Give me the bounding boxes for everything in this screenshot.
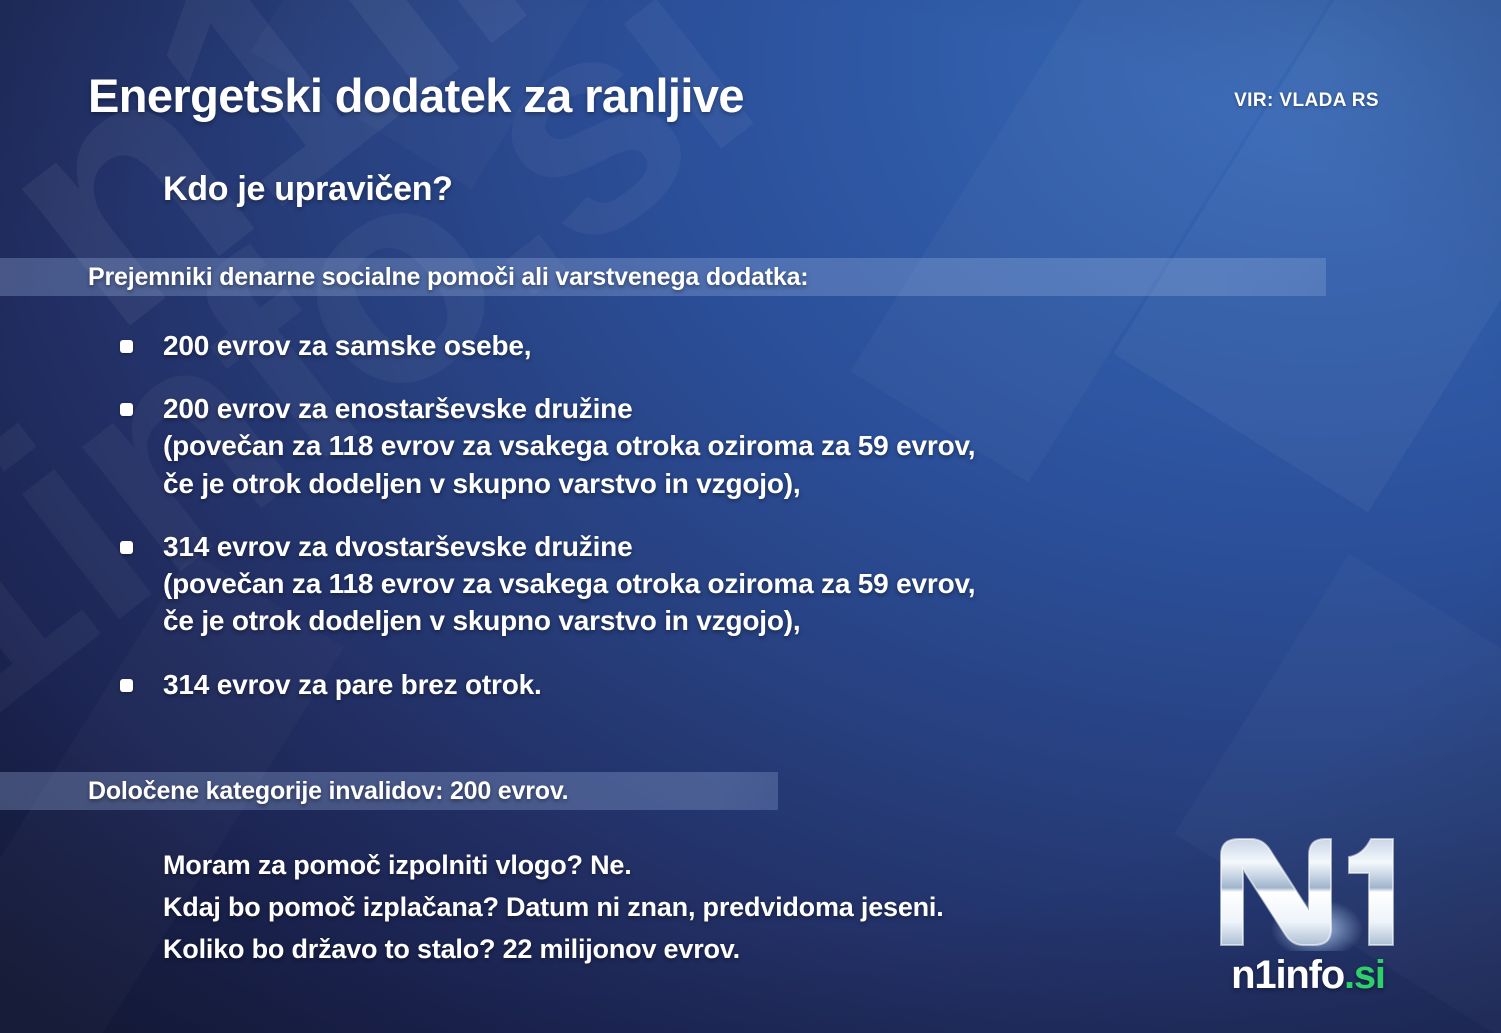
list-item: 200 evrov za samske osebe, bbox=[120, 327, 1240, 364]
n1-logo-wordmark-tld: .si bbox=[1344, 953, 1385, 997]
list-item: 314 evrov za dvostarševske družine (pove… bbox=[120, 528, 1240, 640]
list-item-line: 200 evrov za samske osebe, bbox=[163, 327, 531, 364]
n1-logo-wordmark-name: n1info bbox=[1231, 953, 1344, 997]
section-banner-eligibility-label: Prejemniki denarne socialne pomoči ali v… bbox=[0, 263, 808, 292]
eligibility-list: 200 evrov za samske osebe, 200 evrov za … bbox=[120, 327, 1240, 729]
bullet-square-icon bbox=[120, 679, 133, 692]
content-area: Energetski dodatek za ranljive VIR: VLAD… bbox=[0, 0, 1501, 1033]
faq-line: Koliko bo državo to stalo? 22 milijonov … bbox=[163, 929, 944, 971]
list-item-line: 314 evrov za dvostarševske družine bbox=[163, 528, 975, 565]
list-item: 314 evrov za pare brez otrok. bbox=[120, 666, 1240, 703]
page-subtitle: Kdo je upravičen? bbox=[163, 170, 453, 209]
faq-block: Moram za pomoč izpolniti vlogo? Ne. Kdaj… bbox=[163, 845, 944, 971]
section-banner-disability-label: Določene kategorije invalidov: 200 evrov… bbox=[0, 777, 568, 806]
n1-logo: n1info.si bbox=[1193, 833, 1423, 995]
list-item-text: 200 evrov za enostarševske družine (pove… bbox=[163, 390, 975, 502]
list-item-text: 314 evrov za pare brez otrok. bbox=[163, 666, 542, 703]
source-attribution: VIR: VLADA RS bbox=[1234, 90, 1379, 112]
n1-logo-wordmark: n1info.si bbox=[1193, 955, 1423, 995]
infographic-card: n1info.si n1info.si Energetski dodatek z… bbox=[0, 0, 1501, 1033]
bullet-square-icon bbox=[120, 541, 133, 554]
n1-logo-mark-icon bbox=[1213, 833, 1403, 951]
bullet-square-icon bbox=[120, 340, 133, 353]
list-item-text: 200 evrov za samske osebe, bbox=[163, 327, 531, 364]
list-item-line: (povečan za 118 evrov za vsakega otroka … bbox=[163, 565, 975, 602]
list-item-text: 314 evrov za dvostarševske družine (pove… bbox=[163, 528, 975, 640]
bullet-square-icon bbox=[120, 403, 133, 416]
section-banner-disability: Določene kategorije invalidov: 200 evrov… bbox=[0, 772, 778, 810]
list-item-line: če je otrok dodeljen v skupno varstvo in… bbox=[163, 465, 975, 502]
faq-line: Kdaj bo pomoč izplačana? Datum ni znan, … bbox=[163, 887, 944, 929]
list-item-line: 314 evrov za pare brez otrok. bbox=[163, 666, 542, 703]
section-banner-eligibility: Prejemniki denarne socialne pomoči ali v… bbox=[0, 258, 1326, 296]
list-item-line: če je otrok dodeljen v skupno varstvo in… bbox=[163, 602, 975, 639]
list-item-line: (povečan za 118 evrov za vsakega otroka … bbox=[163, 427, 975, 464]
list-item-line: 200 evrov za enostarševske družine bbox=[163, 390, 975, 427]
list-item: 200 evrov za enostarševske družine (pove… bbox=[120, 390, 1240, 502]
page-title: Energetski dodatek za ranljive bbox=[88, 68, 744, 123]
faq-line: Moram za pomoč izpolniti vlogo? Ne. bbox=[163, 845, 944, 887]
